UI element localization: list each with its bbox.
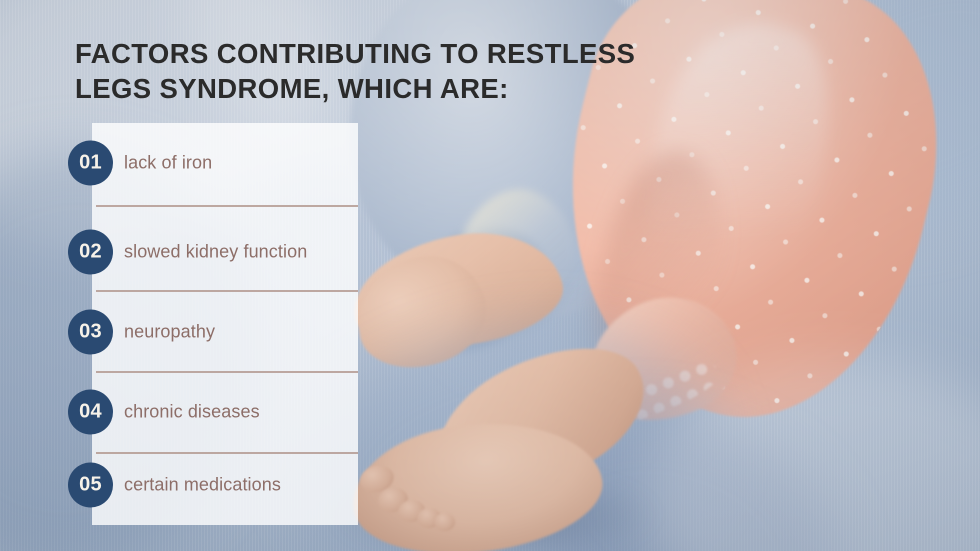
list-item-label: slowed kidney function [124,242,307,263]
list-item: 05 certain medications [0,445,360,525]
list-divider [96,205,358,207]
list-item-label: lack of iron [124,153,212,174]
infographic-slide: FACTORS CONTRIBUTING TO RESTLESS LEGS SY… [0,0,980,551]
list-divider [96,290,358,292]
list-divider [96,371,358,373]
list-item-number-badge: 03 [68,310,113,355]
list-item-number-badge: 05 [68,463,113,508]
list-item-label: chronic diseases [124,402,260,423]
page-title: FACTORS CONTRIBUTING TO RESTLESS LEGS SY… [75,37,695,106]
toe [434,513,455,531]
list-item: 01 lack of iron [0,123,360,203]
list-item-label: certain medications [124,475,281,496]
list-divider [96,452,358,454]
list-item-number-badge: 02 [68,230,113,275]
list-item-label: neuropathy [124,322,215,343]
list-item: 02 slowed kidney function [0,212,360,292]
list-item-number-badge: 01 [68,141,113,186]
list-item-number-badge: 04 [68,390,113,435]
factors-list: 01 lack of iron 02 slowed kidney functio… [0,123,360,525]
list-item: 04 chronic diseases [0,372,360,452]
list-item: 03 neuropathy [0,292,360,372]
